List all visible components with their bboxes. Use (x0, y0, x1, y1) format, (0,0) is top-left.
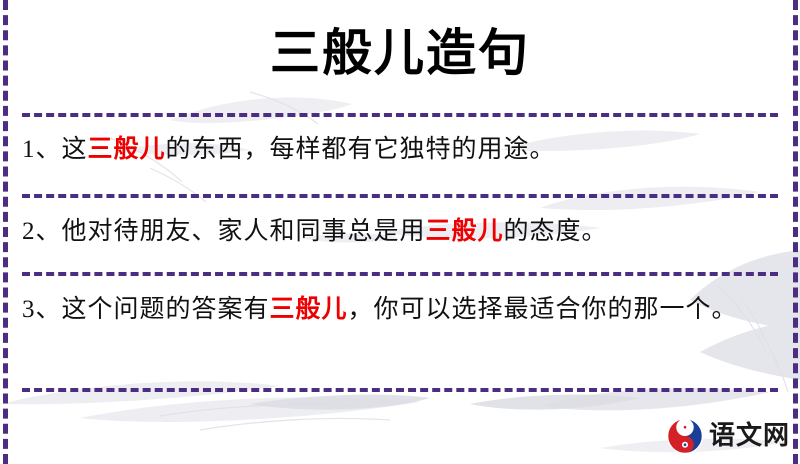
sentence-text-3-part-1: 这个问题的答案有 (62, 296, 270, 323)
frame-border-right (793, 0, 798, 464)
keyword-highlight-1: 三般儿 (88, 136, 166, 163)
sentence-item-1: 1、这三般儿的东西，每样都有它独特的用途。 (22, 128, 782, 172)
sentence-text-1-part-1: 这 (62, 136, 88, 163)
page-title: 三般儿造句 (0, 18, 800, 88)
sentence-number-2: 2、 (22, 218, 62, 245)
sentence-item-2: 2、他对待朋友、家人和同事总是用三般儿的态度。 (22, 210, 782, 254)
logo-text: 语文网 (709, 421, 790, 451)
separator-line-4 (22, 388, 778, 392)
sentence-text-2-part-3: 的态度。 (504, 218, 608, 245)
sentence-number-1: 1、 (22, 136, 62, 163)
sentence-item-3: 3、这个问题的答案有三般儿，你可以选择最适合你的那一个。 (22, 288, 767, 332)
keyword-highlight-2: 三般儿 (426, 218, 504, 245)
sentence-text-2-part-1: 他对待朋友、家人和同事总是用 (62, 218, 426, 245)
sentence-text-3-part-3: ，你可以选择最适合你的那一个。 (348, 296, 738, 323)
slide-page: 三般儿造句 1、这三般儿的东西，每样都有它独特的用途。 2、他对待朋友、家人和同… (0, 0, 800, 464)
separator-line-2 (22, 194, 778, 198)
keyword-highlight-3: 三般儿 (270, 296, 348, 323)
taiji-yinyang-icon (666, 417, 704, 455)
separator-line-3 (22, 272, 778, 276)
site-logo[interactable]: 语文网 (666, 414, 794, 458)
sentence-text-1-part-3: 的东西，每样都有它独特的用途。 (166, 136, 556, 163)
frame-border-left (3, 0, 8, 464)
separator-line-1 (22, 113, 778, 117)
sentence-number-3: 3、 (22, 296, 62, 323)
